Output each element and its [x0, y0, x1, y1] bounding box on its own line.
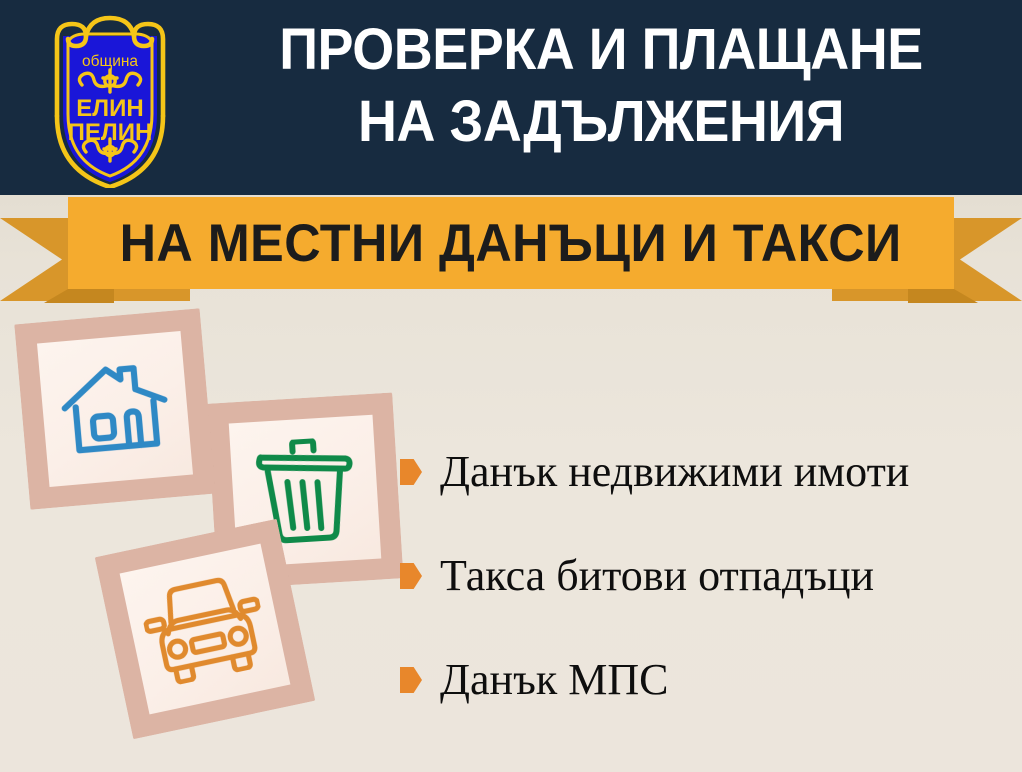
list-item-label: Такса битови отпадъци: [440, 552, 874, 600]
poster-banner: община ЕЛИН ПЕЛИН ПРОВЕРКА И ПЛАЩАНЕ НА …: [0, 0, 1022, 772]
header-bar: община ЕЛИН ПЕЛИН ПРОВЕРКА И ПЛАЩАНЕ НА …: [0, 0, 1022, 195]
ribbon-subtitle: НА МЕСТНИ ДАНЪЦИ И ТАКСИ: [120, 217, 902, 270]
list-item-label: Данък МПС: [440, 656, 668, 704]
ribbon-band: НА МЕСТНИ ДАНЪЦИ И ТАКСИ: [68, 197, 954, 289]
page-title-line-1: ПРОВЕРКА И ПЛАЩАНЕ: [223, 14, 978, 86]
logo-line-2: ЕЛИН: [76, 95, 143, 122]
car-icon: [137, 569, 273, 689]
page-title: ПРОВЕРКА И ПЛАЩАНЕ НА ЗАДЪЛЖЕНИЯ: [195, 14, 1007, 158]
page-title-line-2: НА ЗАДЪЛЖЕНИЯ: [223, 86, 978, 158]
stamp-card-property: [14, 308, 216, 510]
logo-line-1: община: [82, 53, 138, 70]
arrow-bullet-icon: [400, 459, 422, 485]
list-item-label: Данък недвижими имоти: [440, 448, 909, 496]
logo-line-3: ПЕЛИН: [68, 119, 153, 146]
arrow-bullet-icon: [400, 563, 422, 589]
list-item[interactable]: Данък МПС: [400, 628, 1010, 732]
municipality-logo: община ЕЛИН ПЕЛИН: [30, 6, 190, 188]
ribbon-banner: НА МЕСТНИ ДАНЪЦИ И ТАКСИ: [0, 193, 1022, 311]
tax-type-list: Данък недвижими имоти Такса битови отпад…: [400, 420, 1010, 732]
list-item[interactable]: Такса битови отпадъци: [400, 524, 1010, 628]
list-item[interactable]: Данък недвижими имоти: [400, 420, 1010, 524]
house-icon: [56, 356, 174, 461]
stamp-card-vehicle: [95, 519, 316, 740]
stamp-paper-vehicle: [120, 544, 291, 715]
arrow-bullet-icon: [400, 667, 422, 693]
stamp-paper-property: [37, 331, 193, 487]
